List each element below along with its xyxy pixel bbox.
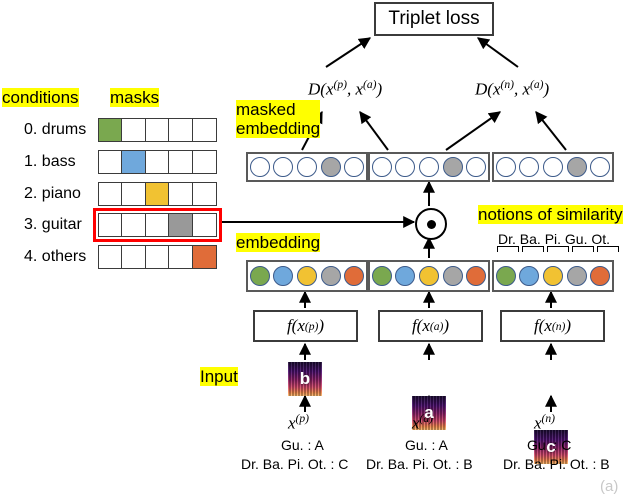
mask-cell bbox=[98, 245, 123, 269]
embedding-unit-piano bbox=[543, 266, 563, 286]
embedding-unit-bass bbox=[395, 266, 415, 286]
embedding-unit-others bbox=[344, 266, 364, 286]
masked-embedding-label-line2: embedding bbox=[236, 119, 320, 138]
similarity-tick-others: Ot. bbox=[591, 231, 610, 247]
mask-cell bbox=[145, 245, 170, 269]
masked-embedding-anchor bbox=[368, 152, 490, 182]
embedding-unit bbox=[543, 157, 563, 177]
similarity-tick-labels: Dr. Ba. Pi. Gu. Ot. bbox=[498, 231, 610, 247]
embedding-unit-guitar bbox=[321, 266, 341, 286]
masked-embedding-negative bbox=[492, 152, 614, 182]
masked-embedding-label: masked embedding bbox=[236, 100, 320, 138]
mask-cell bbox=[121, 245, 146, 269]
brace-icon bbox=[497, 246, 519, 252]
spectrogram-letter: c bbox=[546, 437, 555, 457]
embedding-unit bbox=[273, 157, 293, 177]
triplet-loss-box: Triplet loss bbox=[374, 2, 494, 36]
mask-row-bass[interactable] bbox=[98, 150, 217, 174]
mask-cell bbox=[192, 150, 217, 174]
mask-cell bbox=[168, 182, 193, 206]
mask-cell bbox=[168, 150, 193, 174]
similarity-tick-piano: Pi. bbox=[545, 231, 561, 247]
condition-label-guitar: 3. guitar bbox=[24, 216, 82, 234]
embedding-unit-piano bbox=[419, 266, 439, 286]
mask-cell bbox=[168, 118, 193, 142]
embedding-unit-active bbox=[567, 157, 587, 177]
mask-cell bbox=[192, 118, 217, 142]
figure-caption: (a) bbox=[600, 478, 618, 495]
annotation-positive-guitar: Gu. : A bbox=[281, 437, 324, 453]
encoder-box-negative: f(x(n)) bbox=[500, 310, 605, 342]
mask-cell bbox=[121, 150, 146, 174]
notions-of-similarity-label: notions of similarity bbox=[478, 205, 623, 224]
masks-header: masks bbox=[110, 88, 159, 107]
spectrogram-letter: a bbox=[424, 403, 433, 423]
similarity-braces bbox=[497, 246, 619, 252]
input-label: Input bbox=[200, 367, 238, 386]
mask-cell bbox=[98, 182, 123, 206]
mask-cell bbox=[145, 150, 170, 174]
spectrogram-positive: b bbox=[288, 362, 322, 396]
elementwise-product-icon bbox=[415, 208, 447, 240]
condition-label-drums: 0. drums bbox=[24, 121, 86, 139]
encoder-box-positive: f(x(p)) bbox=[253, 310, 358, 342]
mask-cell bbox=[192, 245, 217, 269]
annotation-negative-others: Dr. Ba. Pi. Ot. : B bbox=[503, 456, 610, 472]
embedding-unit-drums bbox=[496, 266, 516, 286]
embedding-unit bbox=[250, 157, 270, 177]
embedding-unit-drums bbox=[250, 266, 270, 286]
mask-row-others[interactable] bbox=[98, 245, 217, 269]
embedding-unit-others bbox=[590, 266, 610, 286]
embedding-unit bbox=[466, 157, 486, 177]
annotation-anchor-others: Dr. Ba. Pi. Ot. : B bbox=[366, 456, 473, 472]
embedding-unit-guitar bbox=[567, 266, 587, 286]
mask-cell bbox=[192, 182, 217, 206]
brace-icon bbox=[597, 246, 619, 252]
mask-cell bbox=[121, 118, 146, 142]
encoder-box-anchor: f(x(a)) bbox=[378, 310, 483, 342]
condition-label-bass: 1. bass bbox=[24, 153, 76, 171]
embedding-unit bbox=[496, 157, 516, 177]
embedding-unit-piano bbox=[297, 266, 317, 286]
similarity-tick-guitar: Gu. bbox=[565, 231, 588, 247]
mask-row-drums[interactable] bbox=[98, 118, 217, 142]
conditions-header: conditions bbox=[2, 88, 79, 107]
embedding-anchor bbox=[368, 260, 490, 292]
mask-cell bbox=[145, 118, 170, 142]
embedding-unit-drums bbox=[372, 266, 392, 286]
masked-embedding-positive bbox=[246, 152, 368, 182]
spectrogram-letter: b bbox=[300, 369, 310, 389]
condition-label-others: 4. others bbox=[24, 248, 86, 266]
condition-label-piano: 2. piano bbox=[24, 185, 81, 203]
embedding-unit-guitar bbox=[443, 266, 463, 286]
brace-icon bbox=[572, 246, 594, 252]
input-symbol-positive: x(p) bbox=[288, 412, 309, 434]
embedding-unit-active bbox=[443, 157, 463, 177]
mask-cell bbox=[168, 245, 193, 269]
mask-cell bbox=[98, 150, 123, 174]
triplet-loss-label: Triplet loss bbox=[388, 8, 479, 30]
brace-icon bbox=[522, 246, 544, 252]
embedding-unit bbox=[344, 157, 364, 177]
embedding-unit bbox=[519, 157, 539, 177]
similarity-tick-bass: Ba. bbox=[520, 231, 541, 247]
mask-cell bbox=[121, 182, 146, 206]
annotation-positive-others: Dr. Ba. Pi. Ot. : C bbox=[241, 456, 348, 472]
embedding-unit-others bbox=[466, 266, 486, 286]
embedding-unit bbox=[297, 157, 317, 177]
embedding-unit bbox=[590, 157, 610, 177]
embedding-unit-bass bbox=[519, 266, 539, 286]
embedding-unit bbox=[372, 157, 392, 177]
embedding-unit bbox=[419, 157, 439, 177]
masked-embedding-label-line1: masked bbox=[236, 100, 320, 119]
embedding-label: embedding bbox=[236, 233, 320, 252]
distance-positive-anchor: D(x(p), x(a)) bbox=[308, 78, 382, 100]
embedding-negative bbox=[492, 260, 614, 292]
embedding-positive bbox=[246, 260, 368, 292]
mask-cell bbox=[98, 118, 123, 142]
embedding-unit bbox=[395, 157, 415, 177]
input-symbol-negative: x(n) bbox=[534, 412, 555, 434]
mask-cell bbox=[145, 182, 170, 206]
brace-icon bbox=[547, 246, 569, 252]
embedding-unit-active bbox=[321, 157, 341, 177]
embedding-unit-bass bbox=[273, 266, 293, 286]
similarity-tick-drums: Dr. bbox=[498, 231, 516, 247]
mask-row-piano[interactable] bbox=[98, 182, 217, 206]
annotation-anchor-guitar: Gu. : A bbox=[405, 437, 448, 453]
distance-negative-anchor: D(x(n), x(a)) bbox=[475, 78, 549, 100]
selected-condition-outline bbox=[93, 208, 222, 242]
